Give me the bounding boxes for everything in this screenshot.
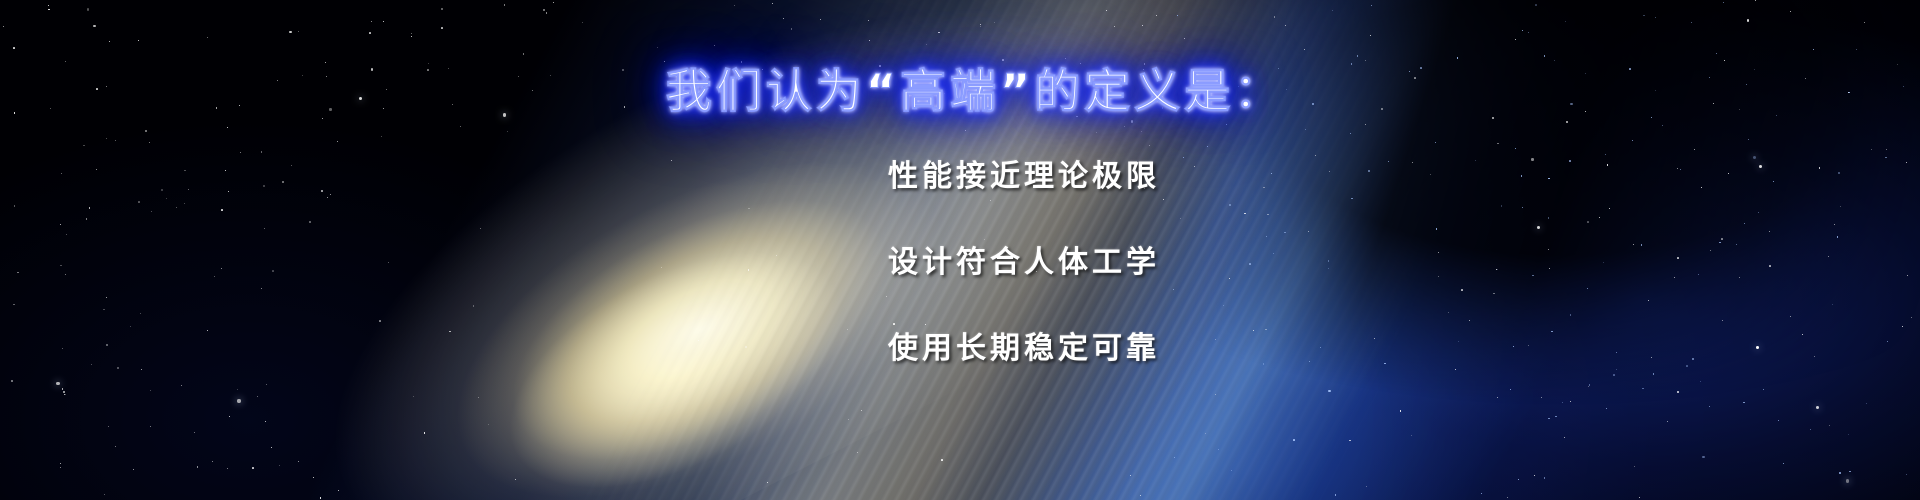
page-title: 我们认为“高端”的定义是： <box>0 65 1920 118</box>
tagline-item-1: 性能接近理论极限 <box>888 162 1228 192</box>
tagline-item-3: 使用长期稳定可靠 <box>888 334 1228 364</box>
tagline-list: 性能接近理论极限 设计符合人体工学 使用长期稳定可靠 <box>888 162 1228 364</box>
hero-banner: 我们认为“高端”的定义是： 性能接近理论极限 设计符合人体工学 使用长期稳定可靠 <box>0 0 1920 500</box>
tagline-item-2: 设计符合人体工学 <box>888 248 1228 278</box>
